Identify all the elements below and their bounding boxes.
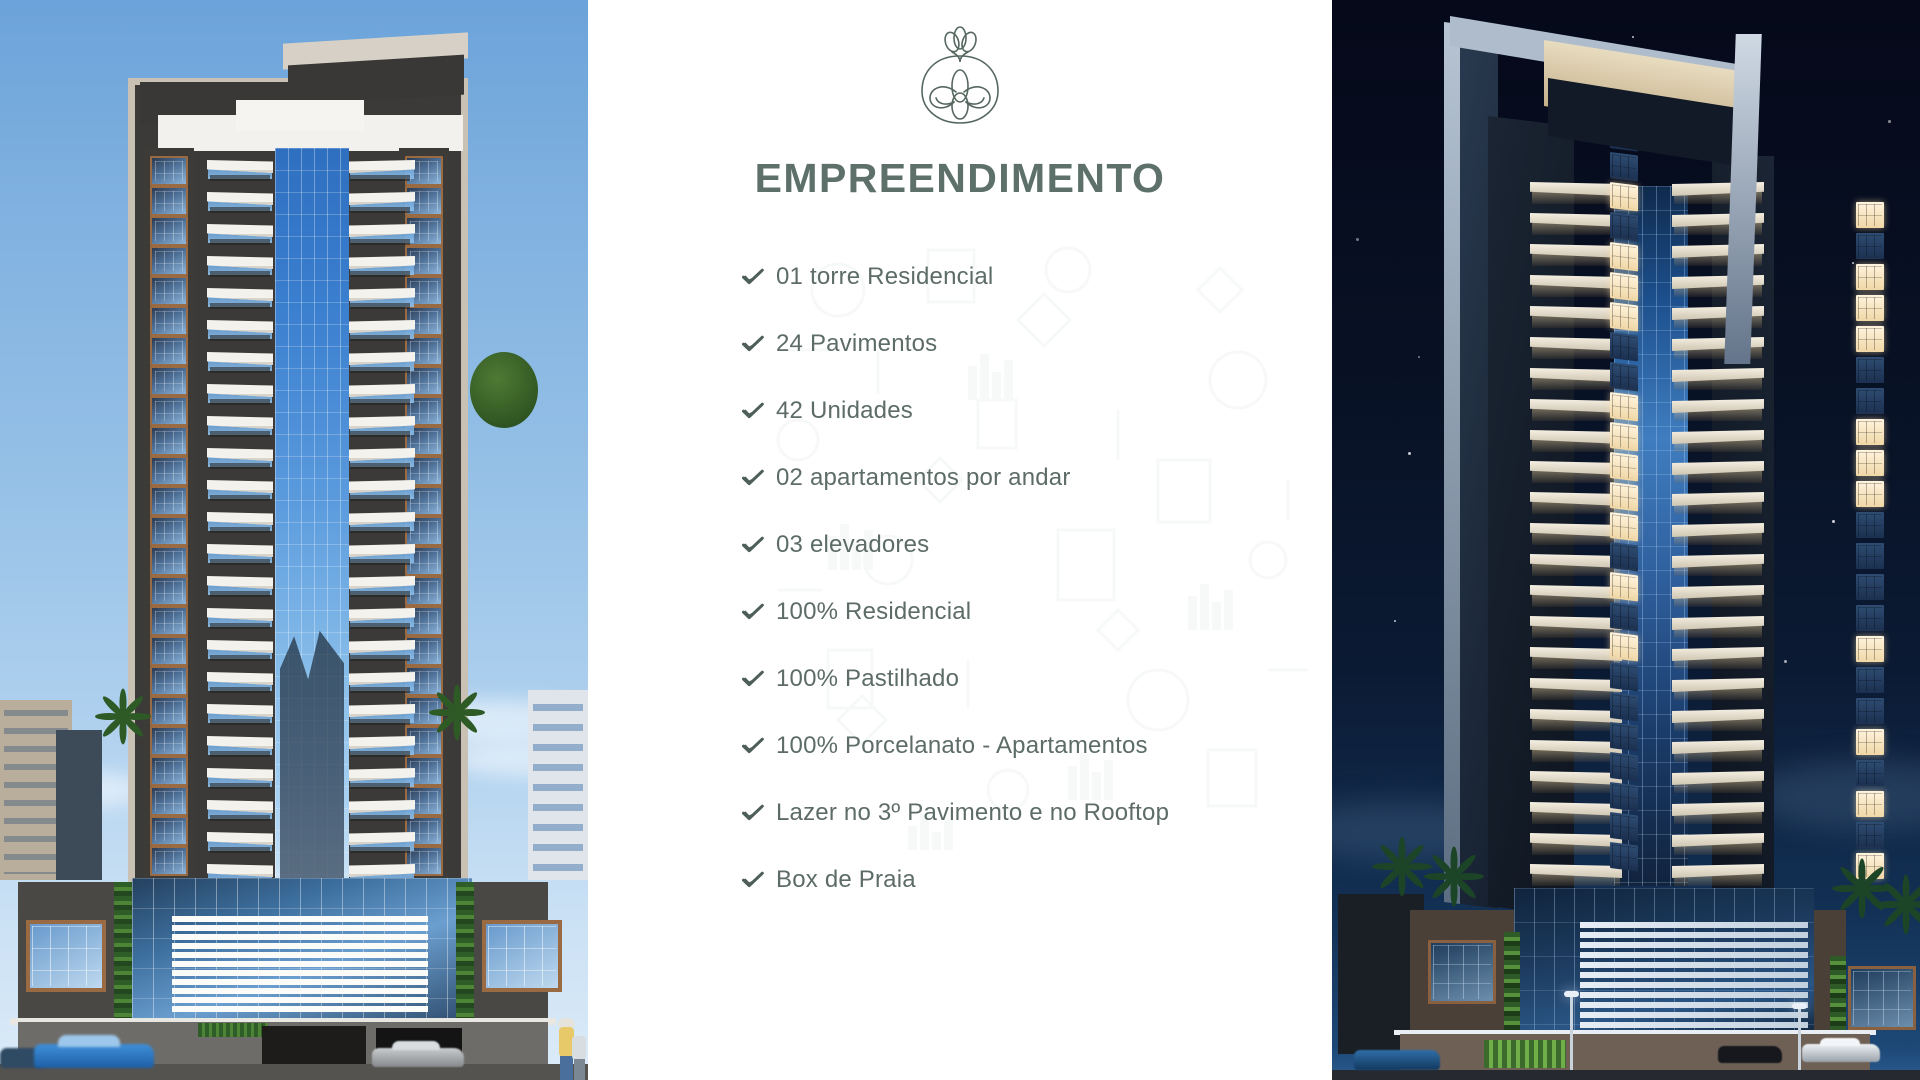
facade-window: [150, 516, 188, 546]
facade-window: [1856, 388, 1884, 414]
balcony-shadow: [210, 463, 270, 469]
rooftop-core: [236, 100, 364, 130]
facade-window: [150, 156, 188, 186]
podium-window: [482, 920, 562, 992]
louver: [1580, 972, 1808, 978]
facade-window: [1610, 512, 1638, 541]
louver: [172, 916, 428, 922]
tower-nighttime: [1444, 6, 1820, 906]
star: [1394, 620, 1396, 622]
feature-item-label: 03 elevadores: [776, 531, 929, 559]
palm-tree: [1424, 848, 1484, 898]
tree: [470, 352, 538, 428]
balcony-shadow: [350, 719, 410, 725]
louver: [1580, 942, 1808, 948]
louver: [172, 943, 428, 949]
facade-window: [1610, 722, 1638, 751]
facade-window: [150, 726, 188, 756]
balcony-shadow: [210, 367, 270, 373]
facade-window: [150, 696, 188, 726]
facade-window: [1856, 295, 1884, 321]
louver: [1580, 952, 1808, 958]
louver: [172, 970, 428, 976]
facade-window: [1610, 662, 1638, 691]
balcony-shadow: [350, 655, 410, 661]
balcony-shadow: [350, 239, 410, 245]
facade-window: [1610, 542, 1638, 571]
feature-item-label: 01 torre Residencial: [776, 263, 993, 291]
podium-louvers: [172, 916, 428, 1012]
check-icon: [742, 268, 776, 286]
louver: [172, 961, 428, 967]
facade-window: [1610, 482, 1638, 511]
car-gray: [372, 1048, 464, 1067]
street-lamp: [1570, 996, 1573, 1078]
facade-window: [1610, 632, 1638, 661]
balcony-shadow: [210, 559, 270, 565]
facade-window: [1610, 752, 1638, 781]
balcony-shadow: [350, 591, 410, 597]
feature-item: 100% Porcelanato - Apartamentos: [742, 712, 1302, 779]
facade-window: [1856, 636, 1884, 662]
feature-item: Lazer no 3º Pavimento e no Rooftop: [742, 779, 1302, 846]
palm-tree: [1876, 876, 1920, 926]
facade-window: [1856, 357, 1884, 383]
neighbor-building-right: [528, 690, 588, 880]
louver: [1580, 922, 1808, 928]
louver: [172, 934, 428, 940]
balcony-shadow: [350, 303, 410, 309]
tower-edge-lip: [1444, 22, 1460, 904]
facade-window: [1856, 264, 1884, 290]
balcony-shadow: [350, 751, 410, 757]
facade-window: [150, 756, 188, 786]
balcony-shadow: [210, 815, 270, 821]
facade-window: [150, 786, 188, 816]
facade-window: [1856, 233, 1884, 259]
facade-window: [1610, 272, 1638, 301]
check-icon: [742, 469, 776, 487]
facade-window: [150, 666, 188, 696]
feature-list: 01 torre Residencial24 Pavimentos42 Unid…: [742, 243, 1302, 913]
car-blue: [1354, 1050, 1440, 1070]
car-white: [1802, 1044, 1880, 1062]
pedestrian-legs: [574, 1059, 585, 1080]
balcony-shadow: [210, 399, 270, 405]
balcony-shadow: [210, 655, 270, 661]
feature-item-label: Box de Praia: [776, 866, 916, 894]
balcony-shadow: [210, 687, 270, 693]
louver: [1580, 932, 1808, 938]
star: [1418, 356, 1420, 358]
palm-tree: [430, 686, 484, 732]
facade-window: [1856, 450, 1884, 476]
hedge: [198, 1023, 268, 1037]
louver: [1580, 992, 1808, 998]
balcony-shadow: [210, 527, 270, 533]
facade-window: [1856, 791, 1884, 817]
feature-item: 100% Residencial: [742, 578, 1302, 645]
balcony-shadow: [210, 175, 270, 181]
balcony-shadow: [210, 751, 270, 757]
hedge: [1484, 1040, 1566, 1068]
balcony-shadow: [350, 495, 410, 501]
feature-item-label: 100% Pastilhado: [776, 665, 959, 693]
balcony-shadow: [350, 175, 410, 181]
check-icon: [742, 536, 776, 554]
balcony-shadow: [350, 367, 410, 373]
building-nighttime-render: [1332, 0, 1920, 1080]
check-icon: [742, 871, 776, 889]
facade-window: [150, 486, 188, 516]
balcony-shadow: [350, 431, 410, 437]
facade-window: [1610, 422, 1638, 451]
check-icon: [742, 335, 776, 353]
feature-item: 42 Unidades: [742, 377, 1302, 444]
balcony-shadow: [350, 271, 410, 277]
car-dark: [1718, 1046, 1782, 1063]
facade-window: [1610, 812, 1638, 841]
facade-window: [150, 246, 188, 276]
balcony-shadow: [350, 815, 410, 821]
facade-window: [150, 186, 188, 216]
facade-window: [150, 336, 188, 366]
balcony-shadow: [210, 623, 270, 629]
feature-item: 24 Pavimentos: [742, 310, 1302, 377]
podium-daytime: [0, 868, 588, 1080]
balcony-shadow: [350, 335, 410, 341]
facade-window: [150, 576, 188, 606]
facade-window: [150, 366, 188, 396]
podium-window: [1848, 966, 1916, 1030]
balcony-shadow: [210, 335, 270, 341]
facade-window: [150, 306, 188, 336]
balcony-shadow: [210, 207, 270, 213]
page-title: EMPREENDIMENTO: [588, 155, 1332, 202]
facade-window: [1856, 822, 1884, 848]
entrance: [262, 1026, 366, 1064]
louver: [172, 979, 428, 985]
feature-item-label: 02 apartamentos por andar: [776, 464, 1071, 492]
louver: [1580, 962, 1808, 968]
facade-window: [1610, 302, 1638, 331]
louver: [172, 988, 428, 994]
check-icon: [742, 603, 776, 621]
balcony-shadow: [350, 623, 410, 629]
balcony-shadow: [350, 783, 410, 789]
feature-item: 03 elevadores: [742, 511, 1302, 578]
facade-window: [1856, 419, 1884, 445]
feature-item-label: Lazer no 3º Pavimento e no Rooftop: [776, 799, 1169, 827]
facade-window: [150, 606, 188, 636]
facade-window: [150, 396, 188, 426]
facade-window: [1610, 452, 1638, 481]
balcony-shadow: [210, 719, 270, 725]
facade-window: [150, 546, 188, 576]
vertical-garden: [114, 882, 132, 1022]
facade-window: [1856, 574, 1884, 600]
check-icon: [742, 804, 776, 822]
balcony-shadow: [350, 847, 410, 853]
feature-item: 100% Pastilhado: [742, 645, 1302, 712]
feature-item: 02 apartamentos por andar: [742, 444, 1302, 511]
facade-window: [1856, 605, 1884, 631]
facade-window: [1610, 362, 1638, 391]
podium-window: [1428, 940, 1496, 1004]
facade-window: [1610, 692, 1638, 721]
facade-window: [1856, 512, 1884, 538]
facade-window: [1856, 729, 1884, 755]
facade-window: [1856, 202, 1884, 228]
logo: [588, 26, 1332, 130]
feature-item-label: 42 Unidades: [776, 397, 913, 425]
facade-window: [150, 216, 188, 246]
louver: [172, 1006, 428, 1012]
star: [1832, 520, 1835, 523]
car-blue: [34, 1044, 154, 1068]
facade-window: [150, 276, 188, 306]
podium-window: [26, 920, 106, 992]
facade-window: [1856, 698, 1884, 724]
facade-window: [150, 456, 188, 486]
balcony-shadow: [350, 463, 410, 469]
star: [1888, 120, 1891, 123]
balcony-shadow: [350, 687, 410, 693]
louver: [172, 952, 428, 958]
vertical-garden: [456, 882, 474, 1022]
louver: [172, 997, 428, 1003]
balcony-shadow: [210, 591, 270, 597]
balcony-shadow: [210, 431, 270, 437]
balcony-shadow: [210, 303, 270, 309]
side-facade-left: [144, 148, 194, 888]
facade-window: [1610, 602, 1638, 631]
facade-window: [150, 636, 188, 666]
slide-root: EMPREENDIMENTO 01 torre Residencial24 Pa…: [0, 0, 1920, 1080]
palm-tree: [96, 690, 150, 736]
balcony-shadow: [210, 847, 270, 853]
facade-window: [1610, 212, 1638, 241]
street: [1332, 1070, 1920, 1080]
content-panel: EMPREENDIMENTO 01 torre Residencial24 Pa…: [588, 0, 1332, 1080]
balcony-shadow: [210, 783, 270, 789]
louver: [1580, 1002, 1808, 1008]
pedestrian-hat: [558, 1018, 575, 1027]
check-icon: [742, 737, 776, 755]
neighbor-building-left-2: [56, 730, 102, 880]
balcony-shadow: [350, 527, 410, 533]
louver: [1580, 1022, 1808, 1028]
pedestrian-body: [572, 1036, 586, 1060]
balcony-shadow: [210, 239, 270, 245]
pomegranate-emblem-icon: [912, 26, 1008, 130]
facade-window: [1856, 760, 1884, 786]
louver: [1580, 982, 1808, 988]
balcony-shadow: [350, 207, 410, 213]
check-icon: [742, 402, 776, 420]
facade-window: [1610, 782, 1638, 811]
facade-window: [1610, 332, 1638, 361]
palm-tree: [1372, 838, 1432, 888]
star: [1852, 262, 1854, 264]
feature-item: Box de Praia: [742, 846, 1302, 913]
balcony-shadow: [350, 399, 410, 405]
tower-daytime: [128, 20, 468, 900]
facade-window: [1610, 572, 1638, 601]
louver: [172, 925, 428, 931]
facade-window: [1610, 392, 1638, 421]
louver: [1580, 1012, 1808, 1018]
facade-window: [150, 426, 188, 456]
facade-window: [1610, 182, 1638, 211]
pedestrian: [572, 1036, 588, 1080]
feature-item-label: 100% Porcelanato - Apartamentos: [776, 732, 1148, 760]
feature-item-label: 100% Residencial: [776, 598, 971, 626]
facade-window: [1856, 326, 1884, 352]
podium-louvers: [1580, 922, 1808, 1026]
facade-left-dark: [1488, 116, 1574, 917]
feature-item: 01 torre Residencial: [742, 243, 1302, 310]
facade-window: [1610, 242, 1638, 271]
balcony-shadow: [210, 271, 270, 277]
balcony-shadow: [350, 559, 410, 565]
feature-item-label: 24 Pavimentos: [776, 330, 937, 358]
facade-window: [1610, 152, 1638, 181]
facade-window: [1856, 543, 1884, 569]
facade-window: [1856, 667, 1884, 693]
building-daytime-render: [0, 0, 588, 1080]
check-icon: [742, 670, 776, 688]
facade-window: [150, 816, 188, 846]
facade-window: [1856, 481, 1884, 507]
vertical-garden: [1504, 932, 1520, 1042]
balcony-shadow: [210, 495, 270, 501]
